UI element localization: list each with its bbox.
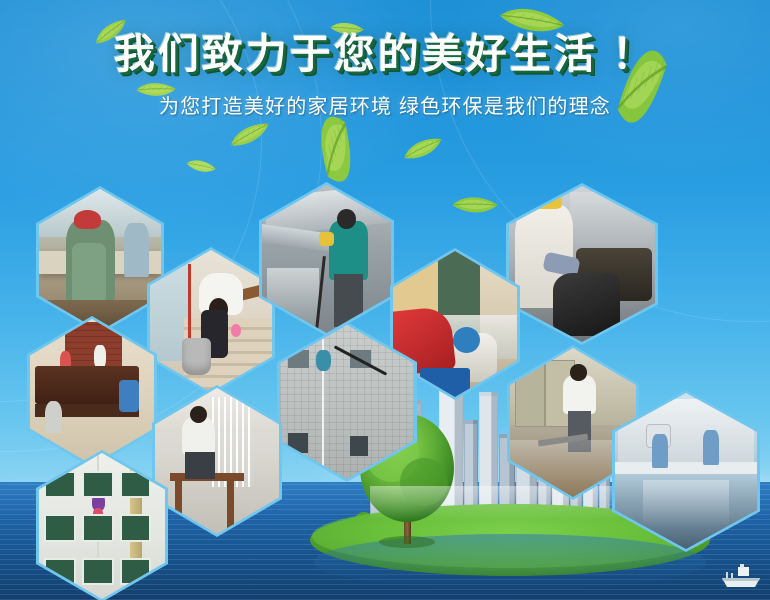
photo-detail-cap [74, 210, 101, 228]
photo-detail-apron [72, 243, 106, 305]
photo-detail-window [44, 514, 76, 541]
subheadline-text: 为您打造美好的家居环境 绿色环保是我们的理念 [159, 97, 611, 117]
boat-icon [718, 562, 764, 592]
photo-detail-window [120, 471, 152, 498]
photo-detail-w1 [652, 434, 668, 468]
photo-detail-scaff3 [227, 481, 234, 531]
photo-detail-torso [329, 221, 368, 280]
photo-detail-brick [65, 322, 122, 366]
photo-detail-window [44, 471, 76, 498]
headline-container: 我们致力于您的美好生活 ！ [0, 34, 770, 75]
subheadline-container: 为您打造美好的家居环境 绿色环保是我们的理念 [0, 97, 770, 118]
photo-detail-bag [553, 273, 620, 335]
photo-detail-legs [334, 274, 362, 327]
photo-detail-w2 [703, 430, 719, 464]
photo-detail-man [316, 350, 331, 372]
photo-detail-head [570, 364, 586, 380]
leaf-small-6-icon [401, 136, 446, 162]
photo-detail-p3 [45, 401, 62, 433]
photo-detail-legs [185, 452, 215, 478]
photo-detail-p2 [124, 223, 148, 277]
photo-detail-pink [231, 324, 242, 337]
leaf-small-7-icon [450, 191, 499, 221]
photo-detail-window [120, 514, 152, 541]
photo-detail-window [82, 558, 114, 585]
photo-detail-bucket [182, 338, 211, 375]
photo-detail-window [82, 514, 114, 541]
photo-detail-winD [350, 436, 369, 456]
photo-detail-door [515, 360, 545, 428]
promo-banner: 我们致力于您的美好生活 ！ 为您打造美好的家居环境 绿色环保是我们的理念 [0, 0, 770, 600]
photo-detail-ledge [615, 462, 757, 474]
photo-detail-ref [643, 480, 728, 527]
photo-detail-winC [288, 433, 308, 453]
headline-text: 我们致力于您的美好生活 ！ [114, 34, 656, 75]
photo-detail-mach [119, 380, 139, 412]
photo-detail-winA [288, 350, 309, 368]
photo-detail-rope [322, 325, 324, 479]
photo-detail-disc [453, 327, 480, 353]
photo-detail-pole [188, 264, 191, 344]
photo-detail-head [190, 406, 207, 424]
photo-detail-glove [319, 232, 334, 245]
photo-detail-window [82, 471, 114, 498]
island-reflection [314, 534, 706, 590]
